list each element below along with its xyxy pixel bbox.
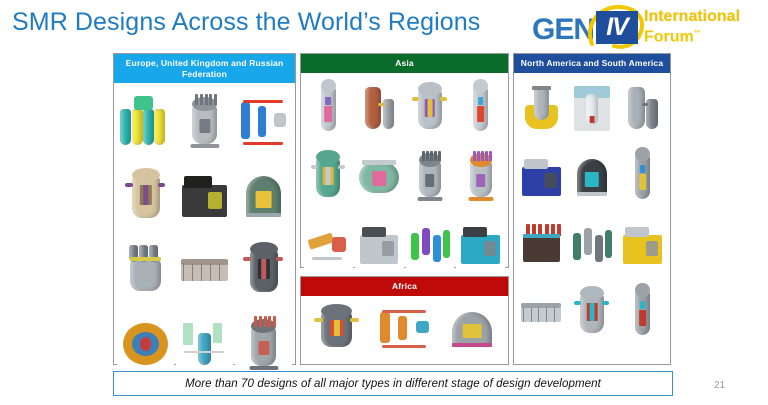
panel-north-america-header: North America and South America	[514, 54, 670, 73]
reactor-render-tall-vessel-rainbow-core	[457, 79, 505, 139]
caption-box: More than 70 designs of all major types …	[113, 371, 673, 396]
reactor-thumbnail[interactable]	[304, 212, 353, 278]
reactor-thumbnail[interactable]	[235, 308, 292, 380]
logo-line2: Forum™	[644, 26, 701, 45]
reactor-thumbnail[interactable]	[406, 144, 455, 210]
reactor-render-slim-core-with-pink-fuel	[304, 79, 352, 139]
reactor-thumbnail[interactable]	[304, 299, 370, 359]
reactor-thumbnail[interactable]	[568, 212, 617, 278]
reactor-thumbnail[interactable]	[117, 86, 174, 158]
reactor-thumbnail-grid	[304, 299, 505, 359]
reactor-render-metallic-vessel-twin-loops	[236, 311, 292, 377]
reactor-render-tan-cutaway-vessel	[118, 163, 174, 229]
panel-asia-header: Asia	[301, 54, 508, 73]
reactor-thumbnail[interactable]	[568, 76, 617, 142]
reactor-thumbnail[interactable]	[117, 234, 174, 306]
reactor-render-horizontal-transport-module	[517, 283, 565, 343]
reactor-thumbnail[interactable]	[235, 160, 292, 232]
reactor-thumbnail[interactable]	[618, 280, 667, 346]
reactor-thumbnail[interactable]	[618, 212, 667, 278]
reactor-thumbnail[interactable]	[176, 86, 233, 158]
reactor-render-grey-pressure-vessel-multihead	[177, 89, 233, 155]
reactor-render-tokamak-torus-cutaway	[118, 311, 174, 377]
reactor-thumbnail[interactable]	[568, 144, 617, 210]
reactor-thumbnail-grid	[117, 86, 292, 380]
reactor-render-dark-steel-reactor-cutaway	[236, 237, 292, 303]
reactor-thumbnail[interactable]	[406, 212, 455, 278]
reactor-render-long-horizontal-module	[177, 237, 233, 303]
reactor-render-colored-tank-farm-skid	[406, 215, 454, 275]
logo-gen-text: GEN	[532, 13, 594, 47]
reactor-thumbnail[interactable]	[439, 299, 505, 359]
reactor-render-slim-cylinder-module	[619, 147, 667, 207]
reactor-render-transparent-process-schematic	[177, 311, 233, 377]
reactor-thumbnail-grid	[517, 76, 667, 346]
reactor-render-black-module-skid	[177, 163, 233, 229]
reactor-render-slender-rod-reactor	[619, 283, 667, 343]
panel-europe-header: Europe, United Kingdom and Russian Feder…	[114, 54, 295, 83]
reactor-render-heat-pipe-micro-reactor	[304, 215, 352, 275]
reactor-render-cutaway-vessel-purple-core	[406, 79, 454, 139]
trademark-mark: ™	[694, 30, 701, 37]
reactor-thumbnail[interactable]	[517, 76, 566, 142]
reactor-render-cluster-vessel-green-yellow	[118, 89, 174, 155]
panel-north-america[interactable]: North America and South America	[513, 53, 671, 365]
reactor-render-grey-containment-cutaway	[441, 302, 503, 356]
reactor-render-yellow-cradle-reactor	[517, 79, 565, 139]
reactor-thumbnail-grid	[304, 76, 505, 278]
reactor-render-integral-pwr-cutaway	[568, 283, 616, 343]
reactor-thumbnail[interactable]	[618, 144, 667, 210]
reactor-render-blue-loop-piping-skid	[236, 89, 292, 155]
reactor-render-compact-vessel-orange-core	[457, 147, 505, 207]
reactor-render-pebble-bed-vessel-cutaway	[306, 302, 368, 356]
reactor-thumbnail[interactable]	[304, 144, 353, 210]
reactor-thumbnail[interactable]	[235, 234, 292, 306]
panel-north-america-body	[514, 73, 670, 349]
reactor-render-brown-column-vessel	[355, 79, 403, 139]
logo-line1: International	[644, 9, 740, 25]
gen-iv-international-forum-logo: GEN IV International Forum™	[532, 4, 764, 50]
reactor-thumbnail[interactable]	[176, 234, 233, 306]
reactor-render-grey-vessel-multi-nozzle	[406, 147, 454, 207]
slide: SMR Designs Across the World’s Regions G…	[0, 0, 768, 405]
reactor-thumbnail[interactable]	[372, 299, 438, 359]
reactor-render-barge-mounted-plant	[457, 215, 505, 275]
logo-numeral: IV	[596, 11, 638, 44]
reactor-thumbnail[interactable]	[456, 76, 505, 142]
reactor-thumbnail[interactable]	[456, 144, 505, 210]
reactor-render-dark-containment-internals	[568, 147, 616, 207]
reactor-thumbnail[interactable]	[618, 76, 667, 142]
reactor-thumbnail[interactable]	[117, 308, 174, 380]
panel-africa-header: Africa	[301, 277, 508, 296]
reactor-render-green-tank-and-turbine	[568, 215, 616, 275]
panel-africa-body	[301, 296, 508, 362]
reactor-render-containment-internals-yellow	[236, 163, 292, 229]
panel-asia-body	[301, 73, 508, 281]
reactor-render-blue-roof-plant-building	[517, 147, 565, 207]
caption-text: More than 70 designs of all major types …	[185, 378, 601, 390]
page-number: 21	[714, 380, 725, 391]
reactor-thumbnail[interactable]	[517, 280, 566, 346]
reactor-thumbnail[interactable]	[355, 76, 404, 142]
page-title: SMR Designs Across the World’s Regions	[12, 8, 480, 37]
reactor-render-orange-process-loop-plant	[373, 302, 435, 356]
reactor-thumbnail[interactable]	[517, 144, 566, 210]
reactor-render-grey-vessel-three-risers	[118, 237, 174, 303]
reactor-thumbnail[interactable]	[355, 212, 404, 278]
reactor-render-hex-module-red-pipes	[517, 215, 565, 275]
reactor-render-yellow-crane-module-box	[619, 215, 667, 275]
panel-europe-body	[114, 83, 295, 383]
panel-asia[interactable]: Asia	[300, 53, 509, 268]
reactor-render-pool-type-vessel-in-water	[568, 79, 616, 139]
reactor-thumbnail[interactable]	[456, 212, 505, 278]
reactor-thumbnail[interactable]	[304, 76, 353, 142]
panel-africa[interactable]: Africa	[300, 276, 509, 365]
panel-europe[interactable]: Europe, United Kingdom and Russian Feder…	[113, 53, 296, 365]
reactor-thumbnail[interactable]	[568, 280, 617, 346]
reactor-thumbnail[interactable]	[355, 144, 404, 210]
reactor-render-tall-column-heat-exchanger	[619, 79, 667, 139]
reactor-render-green-teal-vessel-cutaway	[304, 147, 352, 207]
reactor-thumbnail[interactable]	[517, 212, 566, 278]
reactor-thumbnail[interactable]	[406, 76, 455, 142]
reactor-render-wide-containment-cutaway	[355, 147, 403, 207]
reactor-thumbnail[interactable]	[235, 86, 292, 158]
reactor-thumbnail[interactable]	[176, 308, 233, 380]
reactor-thumbnail[interactable]	[176, 160, 233, 232]
reactor-render-underground-silo-module	[355, 215, 403, 275]
reactor-thumbnail[interactable]	[117, 160, 174, 232]
